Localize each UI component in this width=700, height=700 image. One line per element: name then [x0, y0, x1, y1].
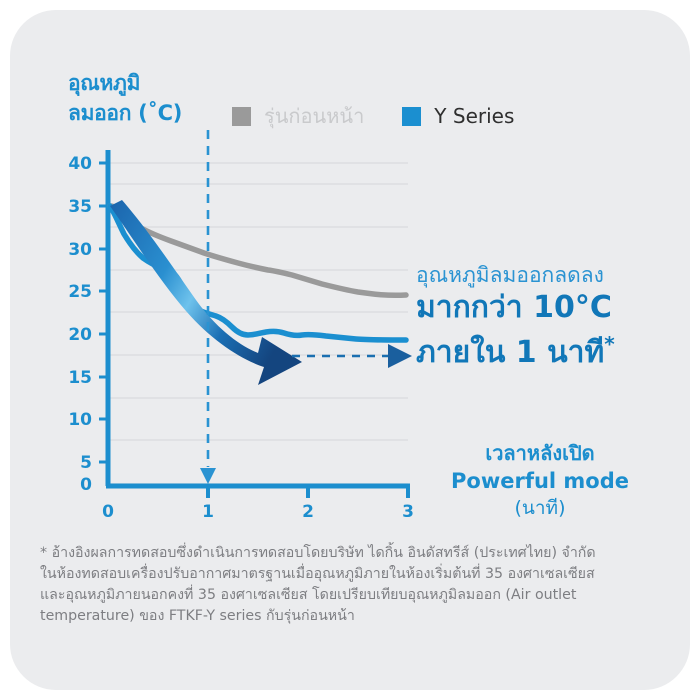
axis-lines [106, 150, 410, 486]
footnote: * อ้างอิงผลการทดสอบซึ่งดำเนินการทดสอบโดย… [40, 543, 665, 627]
callout-line3-text: ภายใน 1 นาที [416, 335, 604, 370]
footnote-line1-text: อ้างอิงผลการทดสอบซึ่งดำเนินการทดสอบโดยบร… [52, 545, 596, 561]
svg-text:10: 10 [68, 410, 92, 430]
svg-text:2: 2 [302, 502, 314, 522]
svg-text:25: 25 [68, 282, 92, 302]
y-tick-labels: 40 35 30 25 20 15 10 5 0 [68, 154, 92, 495]
callout-line3: ภายใน 1 นาที* [416, 326, 686, 371]
x-axis-title-line1: เวลาหลังเปิด [410, 440, 670, 467]
callout-line1: อุณหภูมิลมออกลดลง [416, 262, 686, 289]
callout-text: อุณหภูมิลมออกลดลง มากกว่า 10°C ภายใน 1 น… [416, 262, 686, 371]
svg-text:0: 0 [102, 502, 114, 522]
grid-lines [108, 163, 408, 484]
footnote-line4: temperature) ของ FTKF-Y series กับรุ่นก่… [40, 606, 665, 627]
series-line-y-series [110, 206, 406, 340]
svg-text:15: 15 [68, 368, 92, 388]
svg-text:40: 40 [68, 154, 92, 174]
svg-text:5: 5 [80, 453, 92, 473]
footnote-line1: * อ้างอิงผลการทดสอบซึ่งดำเนินการทดสอบโดย… [40, 543, 665, 564]
x-axis-title: เวลาหลังเปิด Powerful mode (นาที) [410, 440, 670, 522]
footnote-mark: * [40, 545, 47, 561]
callout-line2: มากกว่า 10°C [416, 289, 686, 326]
svg-text:35: 35 [68, 197, 92, 217]
callout-connector [292, 344, 412, 368]
svg-text:0: 0 [80, 475, 92, 495]
drop-arrow [110, 200, 302, 385]
x-axis-title-line3: (นาที) [410, 495, 670, 522]
footnote-line3: และอุณหภูมิภายนอกคงที่ 35 องศาเซลเซียส โ… [40, 585, 665, 606]
svg-text:30: 30 [68, 240, 92, 260]
one-minute-marker [200, 130, 216, 484]
x-tick-labels: 0 1 2 3 [102, 502, 414, 522]
footnote-line2: ในห้องทดสอบเครื่องปรับอากาศมาตรฐานเมื่ออ… [40, 564, 665, 585]
svg-text:1: 1 [202, 502, 214, 522]
callout-footnote-mark: * [604, 332, 614, 356]
x-axis-title-line2: Powerful mode [410, 467, 670, 495]
svg-text:20: 20 [68, 325, 92, 345]
